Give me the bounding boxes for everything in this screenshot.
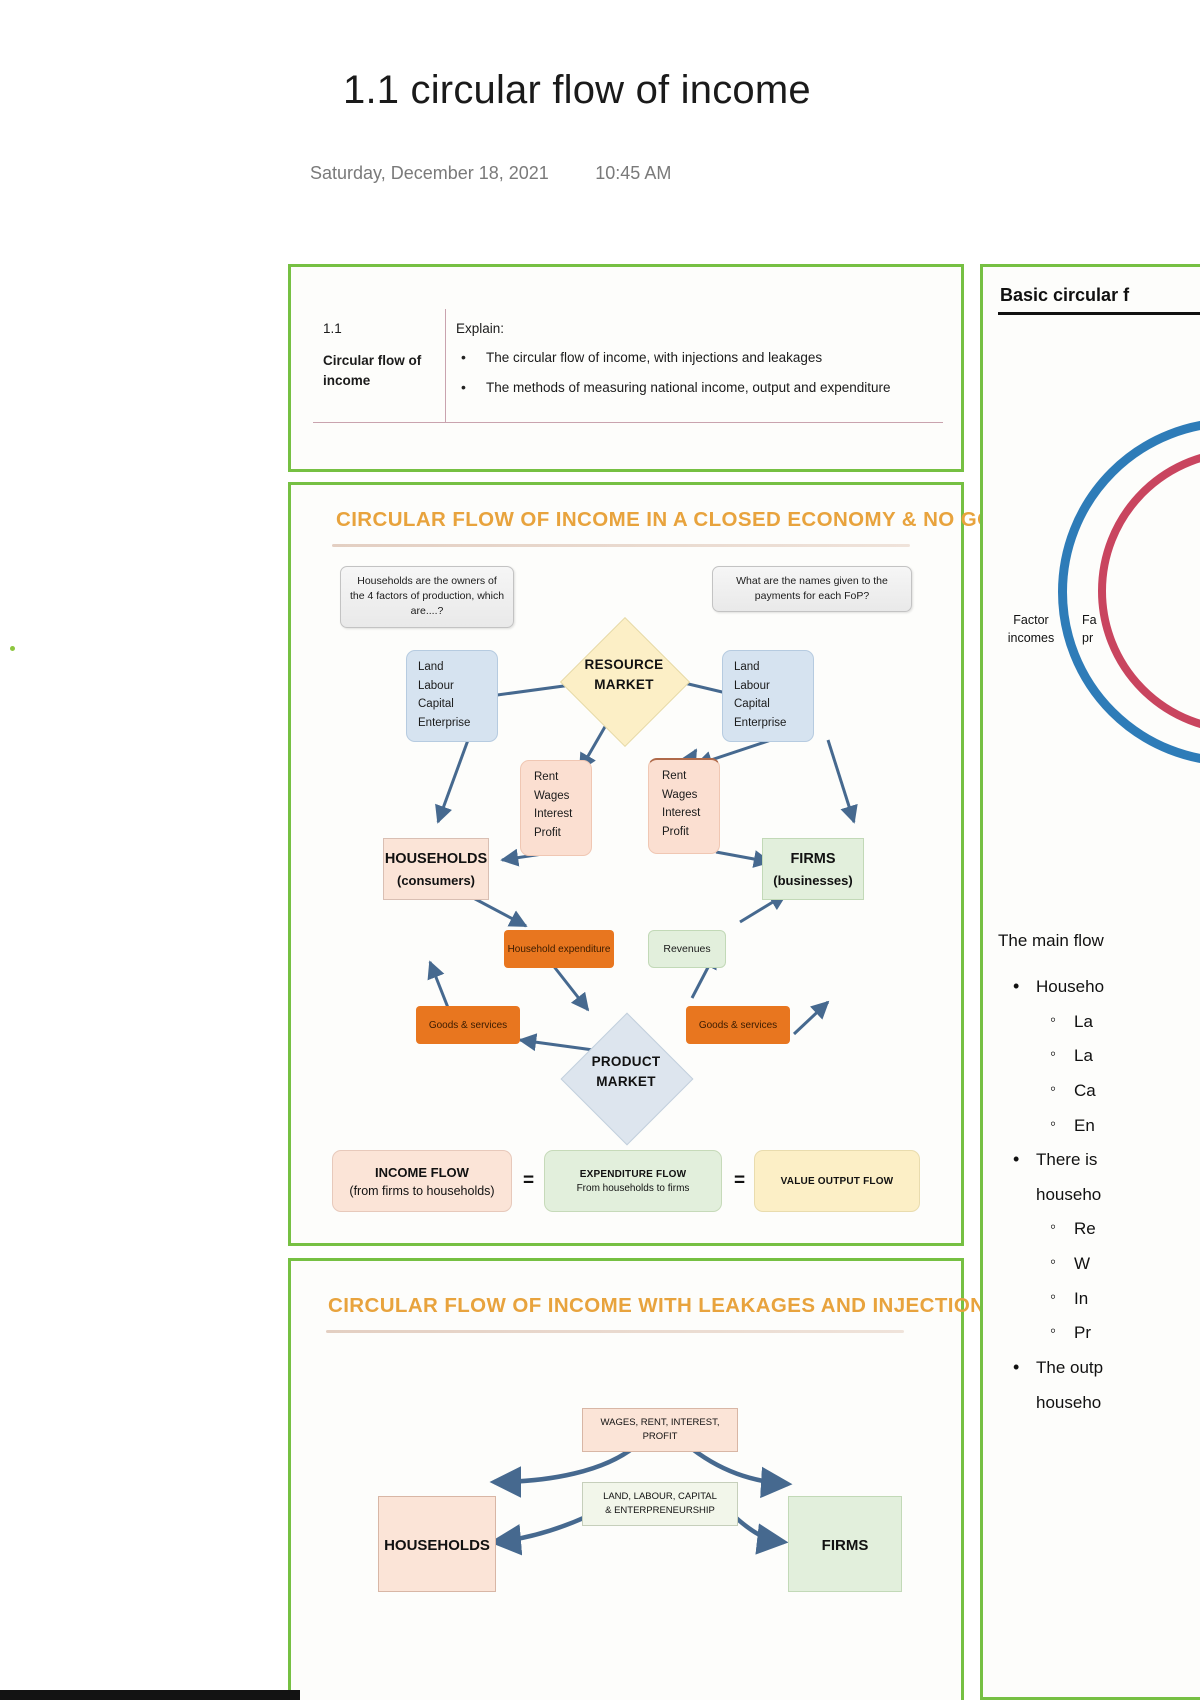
payment-item: Rent xyxy=(534,768,591,787)
tag-goods-services-left: Goods & services xyxy=(416,1006,520,1044)
syllabus-heading: Explain: xyxy=(456,319,933,340)
tag-household-expenditure: Household expenditure xyxy=(504,930,614,968)
product-market-label: PRODUCT MARKET xyxy=(562,1052,690,1091)
flow-box-value-output: VALUE OUTPUT FLOW xyxy=(754,1150,920,1212)
table-row: 1.1 Circular flow of income Explain: The… xyxy=(313,309,943,422)
tag-revenues: Revenues xyxy=(648,930,726,968)
box-wages-rent-interest-profit: WAGES, RENT, INTEREST, PROFIT xyxy=(582,1408,738,1452)
fop-item: Capital xyxy=(418,695,497,714)
list-item: There is xyxy=(998,1148,1200,1173)
fop-item: Labour xyxy=(418,677,497,696)
page-time: 10:45 AM xyxy=(595,163,671,183)
diagram1-title-rule xyxy=(332,544,910,547)
sub-list-item: W xyxy=(998,1252,1200,1277)
arc-label-factor-products: Fa pr xyxy=(1082,612,1136,647)
payment-item: Interest xyxy=(534,805,591,824)
payment-item: Wages xyxy=(662,786,719,805)
sub-list-item: La xyxy=(998,1010,1200,1035)
sub-list-item: Ca xyxy=(998,1079,1200,1104)
sub-list-item: En xyxy=(998,1114,1200,1139)
note-container-syllabus[interactable]: 1.1 Circular flow of income Explain: The… xyxy=(288,264,964,472)
list-item: Househo xyxy=(998,975,1200,1000)
sub-list-item: Pr xyxy=(998,1321,1200,1346)
resource-market-node: RESOURCE MARKET xyxy=(560,632,688,730)
fop-item: Labour xyxy=(734,677,813,696)
payment-item: Profit xyxy=(534,824,591,843)
right-panel-intro: The main flow xyxy=(998,931,1104,951)
right-panel-list: HousehoLaLaCaEnThere ishousehoReWInPrThe… xyxy=(998,975,1200,1425)
margin-dot-icon xyxy=(10,646,15,651)
flow-box-income: INCOME FLOW (from firms to households) xyxy=(332,1150,512,1212)
syllabus-table: 1.1 Circular flow of income Explain: The… xyxy=(313,309,943,423)
product-market-node: PRODUCT MARKET xyxy=(562,1026,690,1130)
flow-box-expenditure: EXPENDITURE FLOW From households to firm… xyxy=(544,1150,722,1212)
callout-factors-question: Households are the owners of the 4 facto… xyxy=(340,566,514,628)
syllabus-bullet-list: The circular flow of income, with inject… xyxy=(456,348,933,399)
right-panel-title: Basic circular f xyxy=(1000,285,1129,306)
callout-payments-question: What are the names given to the payments… xyxy=(712,566,912,612)
page-title: 1.1 circular flow of income xyxy=(343,68,811,113)
households-node: HOUSEHOLDS (consumers) xyxy=(383,838,489,900)
firms-node-2: FIRMS xyxy=(788,1496,902,1592)
households-node-2: HOUSEHOLDS xyxy=(378,1496,496,1592)
diagram2-title-rule xyxy=(326,1330,904,1333)
payment-item: Interest xyxy=(662,804,719,823)
fop-item: Capital xyxy=(734,695,813,714)
list-item: The outp xyxy=(998,1356,1200,1381)
list-item: househo xyxy=(998,1183,1200,1208)
diagram1-title: CIRCULAR FLOW OF INCOME IN A CLOSED ECON… xyxy=(336,508,1024,532)
payment-item: Rent xyxy=(662,767,719,786)
fop-item: Enterprise xyxy=(418,714,497,733)
syllabus-topic: Circular flow of income xyxy=(323,351,435,392)
diagram2-arrows xyxy=(288,1258,964,1700)
bottom-strip xyxy=(0,1690,300,1700)
diagram-closed-economy: CIRCULAR FLOW OF INCOME IN A CLOSED ECON… xyxy=(288,482,964,1246)
payments-box-right: Rent Wages Interest Profit xyxy=(648,758,720,854)
fop-item: Land xyxy=(734,658,813,677)
syllabus-topic-cell: 1.1 Circular flow of income xyxy=(313,309,446,422)
equals-sign-2: = xyxy=(734,1170,745,1192)
diagram-leakages-injections: CIRCULAR FLOW OF INCOME WITH LEAKAGES AN… xyxy=(288,1258,964,1700)
sub-list-item: In xyxy=(998,1287,1200,1312)
right-panel-title-underline xyxy=(998,312,1200,315)
page-date: Saturday, December 18, 2021 xyxy=(310,163,549,183)
diagram2-title: CIRCULAR FLOW OF INCOME WITH LEAKAGES AN… xyxy=(328,1294,999,1318)
sub-list-item: Re xyxy=(998,1217,1200,1242)
fop-item: Enterprise xyxy=(734,714,813,733)
resource-market-label: RESOURCE MARKET xyxy=(560,655,688,694)
payments-box-left: Rent Wages Interest Profit xyxy=(520,760,592,856)
fop-item: Land xyxy=(418,658,497,677)
payment-item: Profit xyxy=(662,823,719,842)
page-meta: Saturday, December 18, 2021 10:45 AM xyxy=(310,163,671,184)
syllabus-code: 1.1 xyxy=(323,319,435,340)
firms-node: FIRMS (businesses) xyxy=(762,838,864,900)
list-item: The methods of measuring national income… xyxy=(456,378,933,399)
fop-box-households: Land Labour Capital Enterprise xyxy=(406,650,498,742)
fop-box-firms: Land Labour Capital Enterprise xyxy=(722,650,814,742)
payment-item: Wages xyxy=(534,787,591,806)
syllabus-detail-cell: Explain: The circular flow of income, wi… xyxy=(446,309,944,422)
list-item: The circular flow of income, with inject… xyxy=(456,348,933,369)
sub-list-item: La xyxy=(998,1044,1200,1069)
tag-goods-services-right: Goods & services xyxy=(686,1006,790,1044)
list-item: househo xyxy=(998,1391,1200,1416)
box-land-labour-capital-entrepreneurship: LAND, LABOUR, CAPITAL & ENTERPRENEURSHIP xyxy=(582,1482,738,1526)
arc-label-factor-incomes: Factor incomes xyxy=(998,612,1064,647)
equals-sign-1: = xyxy=(523,1170,534,1192)
